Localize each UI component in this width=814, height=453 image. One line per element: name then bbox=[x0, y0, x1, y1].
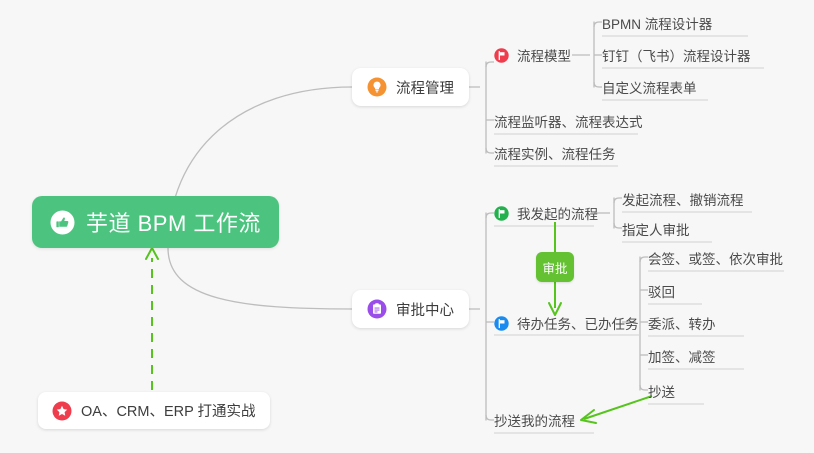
subnode-todo-done-tasks[interactable]: 待办任务、已办任务 bbox=[494, 313, 639, 333]
flag-icon-green bbox=[494, 206, 509, 221]
root-label: 芋道 BPM 工作流 bbox=[86, 206, 261, 238]
note-label: OA、CRM、ERP 打通实战 bbox=[81, 400, 256, 421]
edge-approval-c1 bbox=[486, 213, 494, 218]
edge-approval-c3 bbox=[486, 415, 494, 420]
leaf-bpmn-designer[interactable]: BPMN 流程设计器 bbox=[602, 13, 712, 38]
branch-process-management[interactable]: 流程管理 bbox=[352, 68, 469, 106]
leaf-assigned-approver[interactable]: 指定人审批 bbox=[622, 219, 690, 244]
edge-process-c3 bbox=[486, 148, 494, 153]
root-node[interactable]: 芋道 BPM 工作流 bbox=[32, 196, 279, 248]
edge-root-to-approval bbox=[168, 248, 352, 309]
edge-todo-l1 bbox=[640, 257, 648, 262]
clipboard-icon bbox=[367, 299, 387, 319]
thumbs-up-icon bbox=[50, 210, 75, 235]
branch-process-label: 流程管理 bbox=[396, 77, 454, 98]
approval-step-pill[interactable]: 审批 bbox=[536, 252, 574, 282]
edge-initiated-l1 bbox=[614, 198, 622, 203]
star-icon bbox=[52, 401, 72, 421]
leaf-reject[interactable]: 驳回 bbox=[648, 281, 675, 306]
lightbulb-icon bbox=[367, 77, 387, 97]
edge-model-l1 bbox=[594, 22, 602, 27]
branch-approval-center[interactable]: 审批中心 bbox=[352, 290, 469, 328]
leaf-dingtalk-designer[interactable]: 钉钉（飞书）流程设计器 bbox=[602, 45, 751, 70]
leaf-cc[interactable]: 抄送 bbox=[648, 381, 675, 406]
edge-model-l3 bbox=[594, 82, 602, 87]
approval-step-label: 审批 bbox=[542, 258, 567, 277]
note-oa-crm-erp[interactable]: OA、CRM、ERP 打通实战 bbox=[38, 392, 270, 429]
arrow-cc-to-ccflow-line bbox=[584, 396, 652, 419]
leaf-delegate-transfer[interactable]: 委派、转办 bbox=[648, 313, 716, 338]
edge-initiated-l2 bbox=[614, 223, 622, 228]
leaf-cc-to-me[interactable]: 抄送我的流程 bbox=[494, 410, 575, 435]
subnode-my-initiated[interactable]: 我发起的流程 bbox=[494, 203, 598, 223]
leaf-custom-form[interactable]: 自定义流程表单 bbox=[602, 77, 697, 102]
flag-icon-blue bbox=[494, 316, 509, 331]
branch-approval-label: 审批中心 bbox=[396, 299, 454, 320]
subnode-my-initiated-label: 我发起的流程 bbox=[517, 203, 598, 223]
edge-process-c1 bbox=[486, 62, 494, 67]
edge-todo-l5 bbox=[640, 385, 648, 390]
leaf-process-instance[interactable]: 流程实例、流程任务 bbox=[494, 143, 616, 168]
subnode-process-model[interactable]: 流程模型 bbox=[494, 45, 571, 65]
arrow-note-to-root-head bbox=[146, 248, 158, 259]
mindmap-canvas: 芋道 BPM 工作流 流程管理 流程模型 BPMN 流程设计器 钉钉（飞书）流程… bbox=[0, 0, 814, 453]
leaf-process-listener[interactable]: 流程监听器、流程表达式 bbox=[494, 111, 643, 136]
leaf-countersign[interactable]: 会签、或签、依次审批 bbox=[648, 248, 783, 273]
subnode-todo-done-label: 待办任务、已办任务 bbox=[517, 313, 639, 333]
subnode-process-model-label: 流程模型 bbox=[517, 45, 571, 65]
flag-icon-red bbox=[494, 48, 509, 63]
leaf-start-cancel-process[interactable]: 发起流程、撤销流程 bbox=[622, 189, 744, 214]
leaf-add-remove-sign[interactable]: 加签、减签 bbox=[648, 346, 716, 371]
arrow-cc-to-ccflow-head bbox=[581, 410, 596, 423]
